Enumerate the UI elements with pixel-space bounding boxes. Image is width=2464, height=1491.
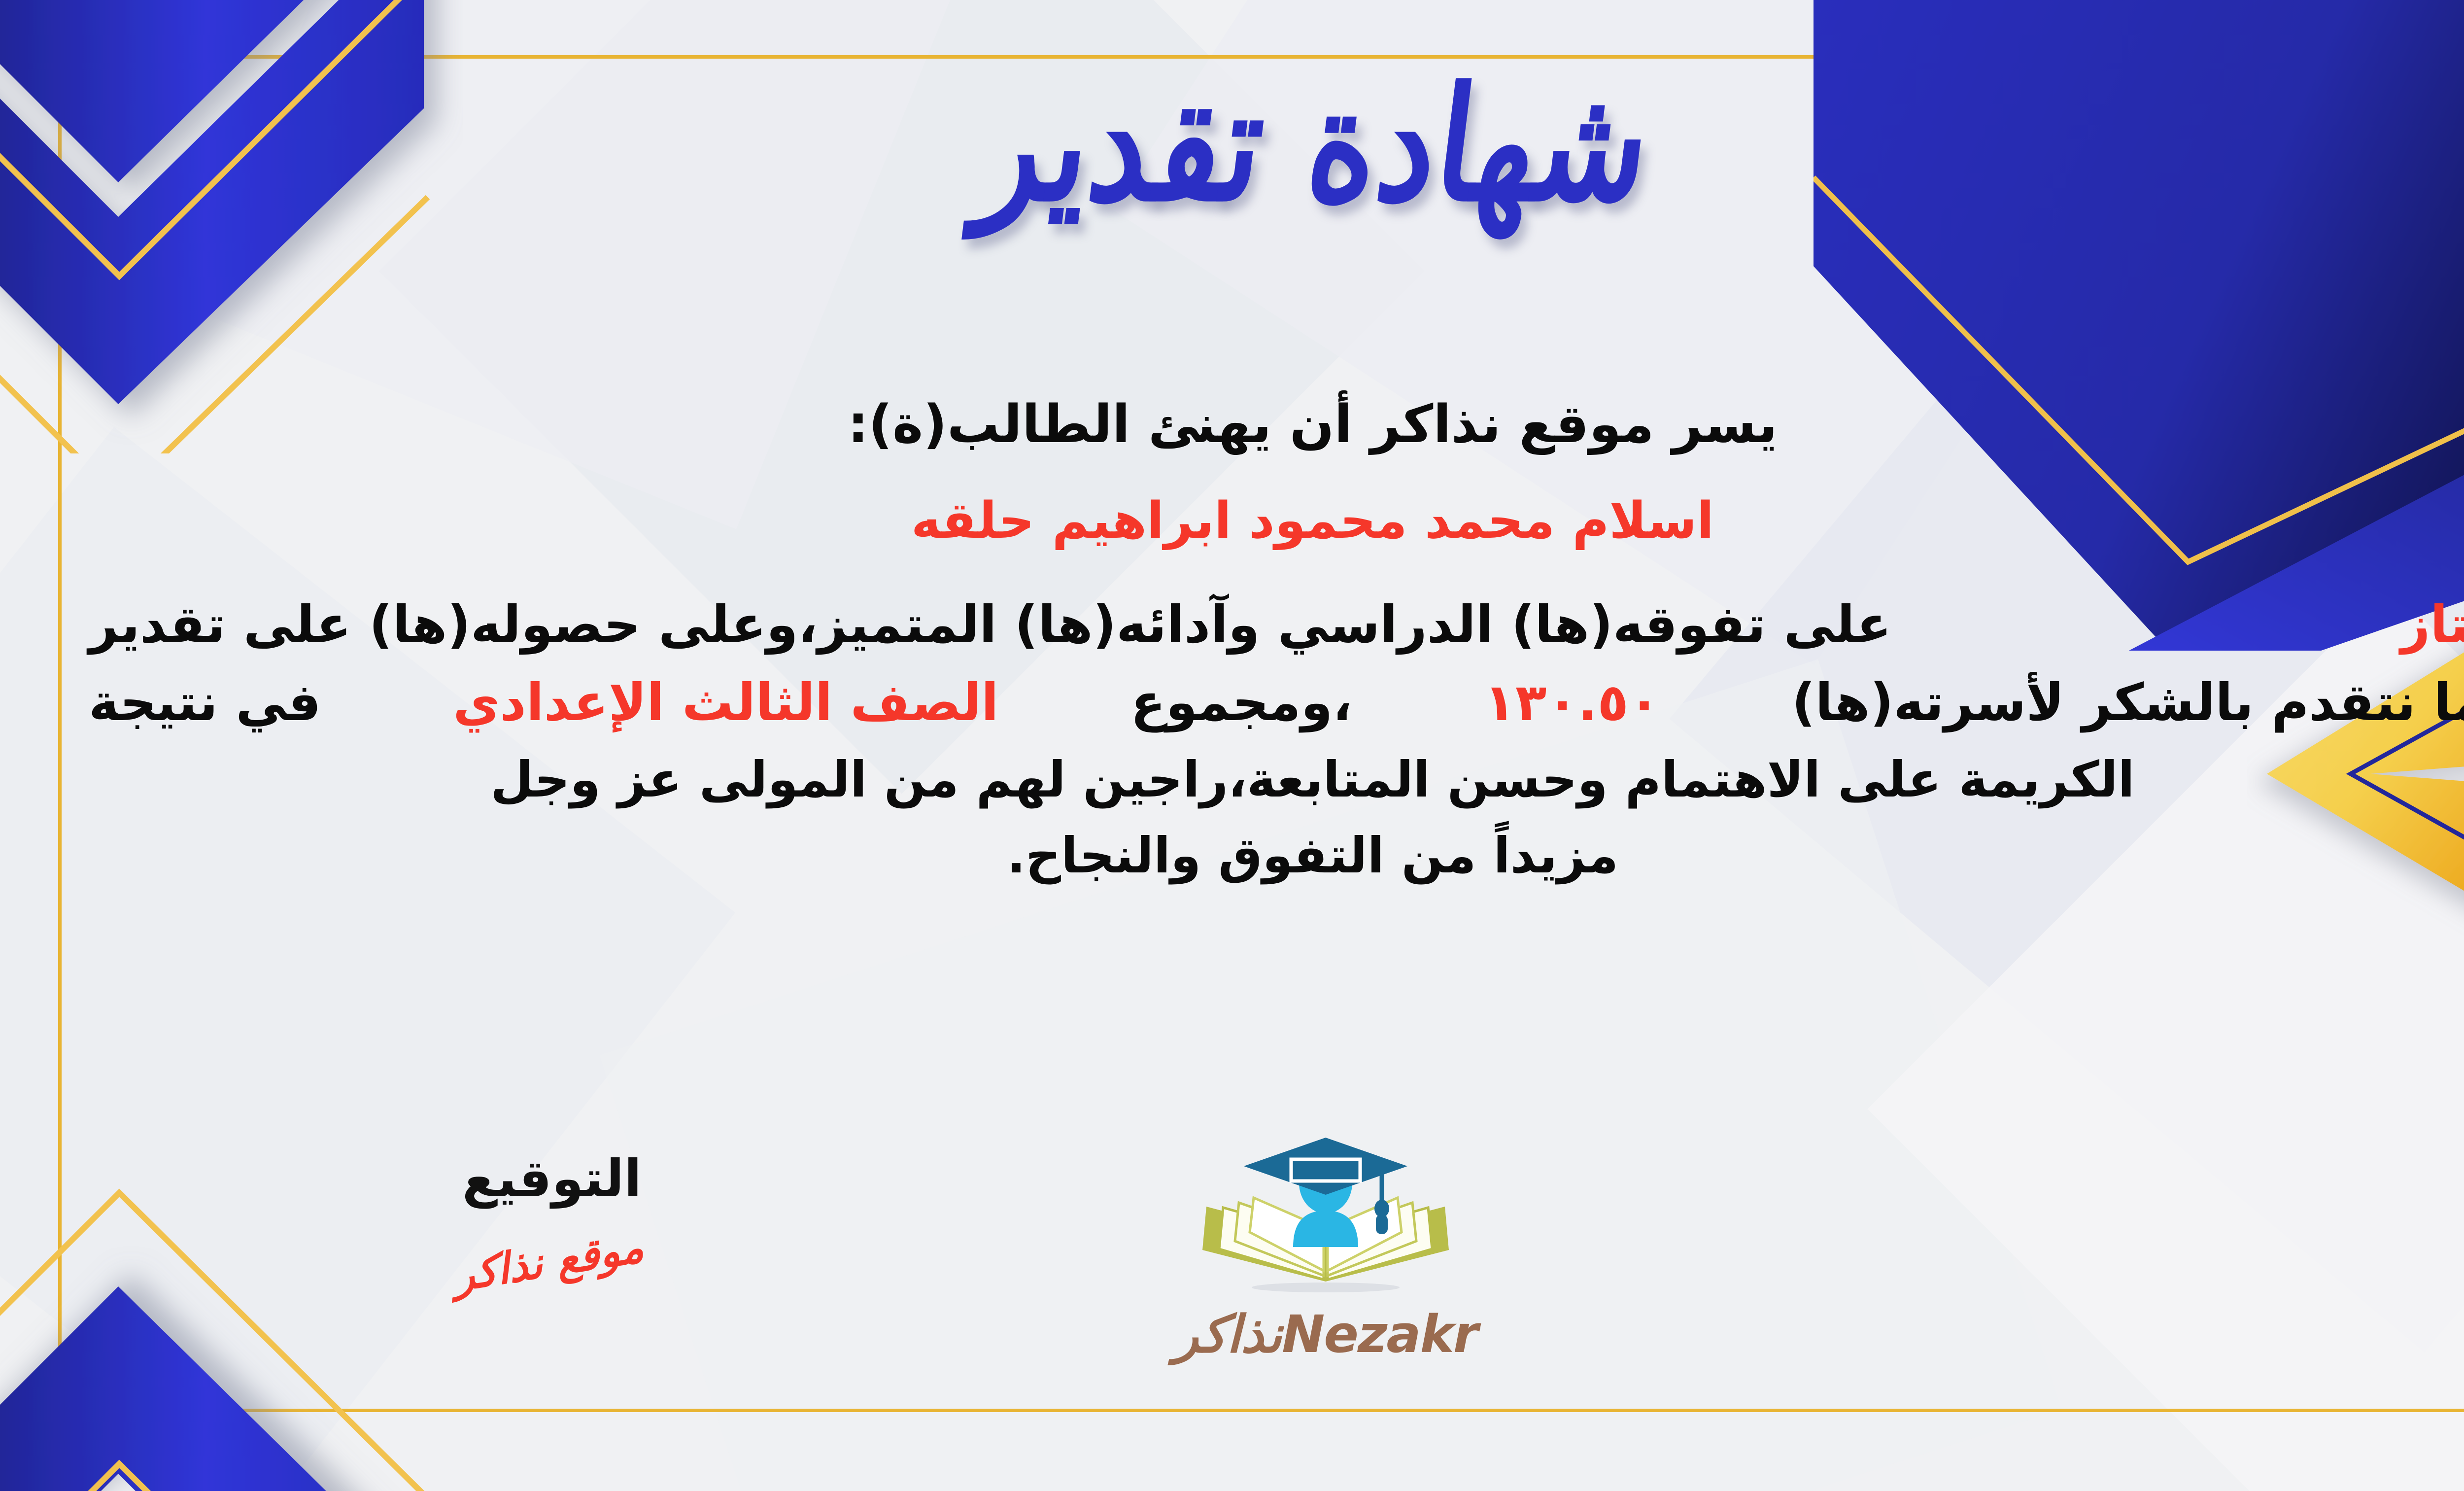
signature-label: التوقيع bbox=[375, 1148, 729, 1209]
page-title: شهادة تقدير bbox=[970, 55, 1660, 235]
signature-block: التوقيع موقع نذاكر bbox=[375, 1148, 729, 1286]
certificate-page: شهادة تقدير يسر موقع نذاكر أن يهنئ الطال… bbox=[0, 0, 2464, 1491]
result-label: في نتيجة bbox=[89, 663, 321, 741]
achievement-text: على تفوقه(ها) الدراسي وآدائه(ها) المتميز… bbox=[89, 586, 1891, 663]
class-name-value: الصف الثالث الإعدادي bbox=[453, 663, 998, 741]
logo-wordmark: Nezakrنذاكر bbox=[1114, 1304, 1538, 1364]
student-name: اسلام محمد محمود ابراهيم حلقه bbox=[89, 483, 2464, 559]
result-line: ،كما نتقدم بالشكر لأسرته(ها) ١٣٠.٥٠ ،ومج… bbox=[89, 663, 2464, 741]
logo-latin-text: Nezakr bbox=[1282, 1304, 1477, 1364]
achievement-line: ممتاز على تفوقه(ها) الدراسي وآدائه(ها) ا… bbox=[89, 586, 2464, 663]
certificate-title-area: شهادة تقدير bbox=[0, 69, 2464, 221]
logo-arabic-text: نذاكر bbox=[1174, 1304, 1282, 1364]
certificate-body: يسر موقع نذاكر أن يهنئ الطالب(ة): اسلام … bbox=[89, 384, 2464, 893]
site-logo: Nezakrنذاكر bbox=[1114, 1134, 1538, 1364]
closing-line: مزيداً من التفوق والنجاح. bbox=[89, 818, 2464, 893]
family-thanks-text: ،كما نتقدم بالشكر لأسرته(ها) bbox=[1792, 663, 2464, 741]
total-score-value: ١٣٠.٥٠ bbox=[1484, 663, 1660, 741]
intro-line: يسر موقع نذاكر أن يهنئ الطالب(ة): bbox=[89, 384, 2464, 464]
grade-value: ممتاز bbox=[2401, 586, 2464, 663]
logo-illustration bbox=[1188, 1134, 1464, 1301]
gratitude-line: الكريمة على الاهتمام وحسن المتابعة،راجين… bbox=[89, 742, 2464, 817]
total-label: ،ومجموع bbox=[1130, 663, 1352, 741]
